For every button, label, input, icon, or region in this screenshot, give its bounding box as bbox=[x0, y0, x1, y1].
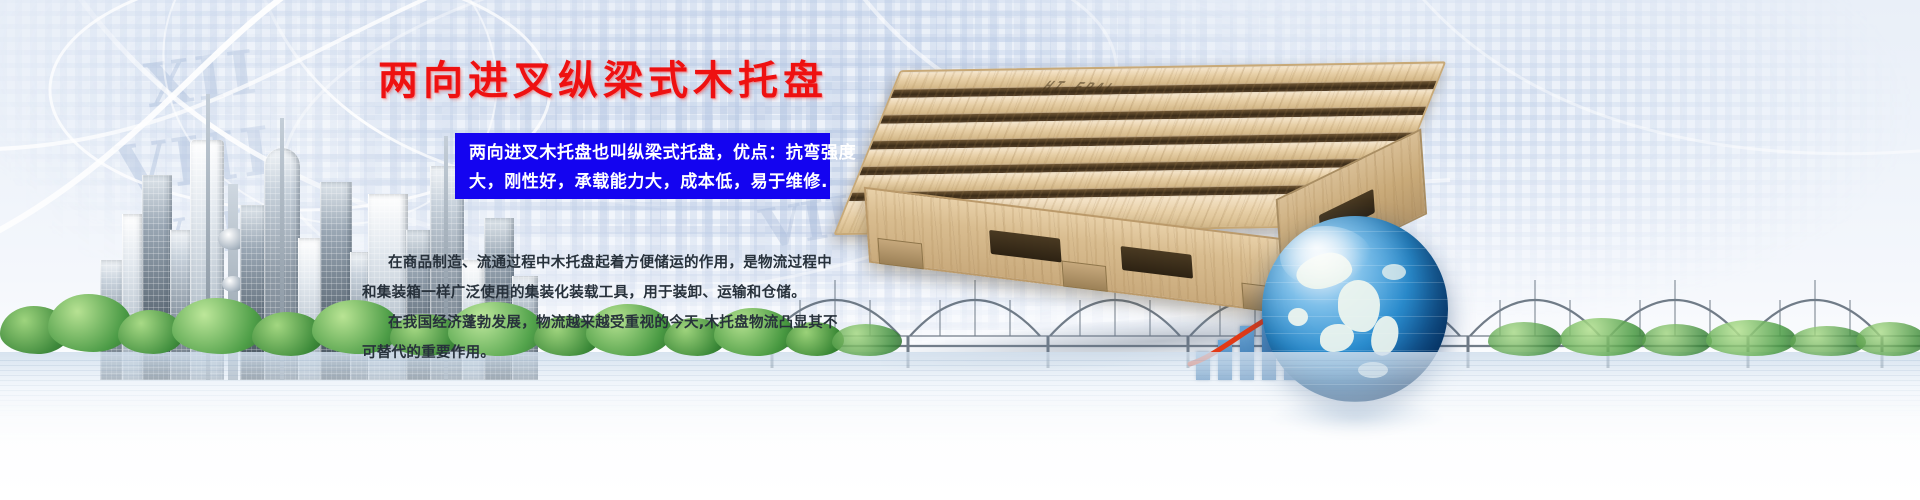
highlight-line-1: 两向进叉木托盘也叫纵梁式托盘，优点：抗弯强度 bbox=[469, 139, 820, 168]
banner-body-copy: 在商品制造、流通过程中木托盘起着方便储运的作用，是物流过程中 和集装箱一样广泛使… bbox=[362, 248, 854, 368]
body-paragraph-2: 和集装箱一样广泛使用的集装化装载工具，用于装卸、运输和仓储。 bbox=[362, 278, 854, 308]
body-paragraph-4: 可替代的重要作用。 bbox=[362, 338, 854, 368]
highlight-line-2: 大，刚性好，承载能力大，成本低，易于维修. bbox=[469, 168, 820, 197]
highlight-callout-box: 两向进叉木托盘也叫纵梁式托盘，优点：抗弯强度 大，刚性好，承载能力大，成本低，易… bbox=[455, 133, 830, 199]
banner-headline: 两向进叉纵梁式木托盘 bbox=[378, 60, 828, 103]
body-paragraph-1: 在商品制造、流通过程中木托盘起着方便储运的作用，是物流过程中 bbox=[362, 248, 854, 278]
tree-foliage-strip bbox=[0, 278, 1920, 368]
body-paragraph-3: 在我国经济蓬勃发展，物流越来越受重视的今天,木托盘物流凸显其不 bbox=[362, 308, 854, 338]
product-banner: XII VIII VII VII bbox=[0, 0, 1920, 500]
